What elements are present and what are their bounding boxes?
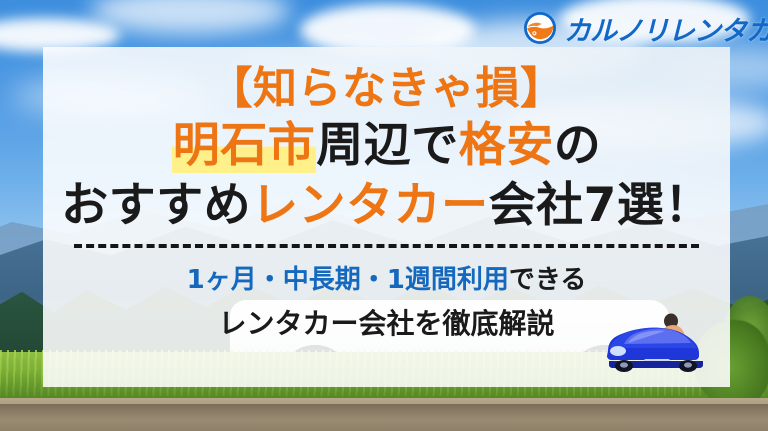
headline-line-2-orange: 格安 [459, 118, 554, 173]
subtitle-line-1-tail: できる [509, 265, 586, 295]
headline-line-3-tail: 会社7選！ [489, 178, 712, 233]
dashed-divider [74, 244, 699, 248]
headline-line-1: 【知らなきゃ損】 [43, 67, 730, 111]
blog-thumbnail-banner: カルノリレンタカー 【知らなきゃ損】 明石市周辺で格安の おすすめレンタカー会社… [0, 0, 768, 431]
headline-line-2: 明石市周辺で格安の [43, 122, 730, 169]
car-in-circle-icon [523, 11, 557, 45]
headline-line-3-orange: レンタカー [251, 178, 489, 233]
site-logo[interactable]: カルノリレンタカー [523, 8, 768, 48]
content-panel: 【知らなきゃ損】 明石市周辺で格安の おすすめレンタカー会社7選！ 1ヶ月・中長… [43, 47, 730, 387]
headline-line-3-head: おすすめ [61, 178, 251, 233]
headline-line-2-tail: の [554, 118, 602, 173]
subtitle-line-2: レンタカー会社を徹底解説 [218, 310, 554, 338]
headline-line-2-mid: 周辺で [316, 118, 459, 173]
subtitle-line-1-blue: 1ヶ月・中長期・1週間利用 [187, 265, 509, 295]
headline-highlighted-city: 明石市 [172, 118, 317, 173]
headline-line-3: おすすめレンタカー会社7選！ [43, 182, 730, 229]
blue-car-with-driver-icon [604, 307, 708, 373]
ground-shadow [0, 404, 768, 420]
subtitle-line-1: 1ヶ月・中長期・1週間利用できる [187, 267, 587, 293]
logo-wordmark: カルノリレンタカー [564, 9, 768, 48]
